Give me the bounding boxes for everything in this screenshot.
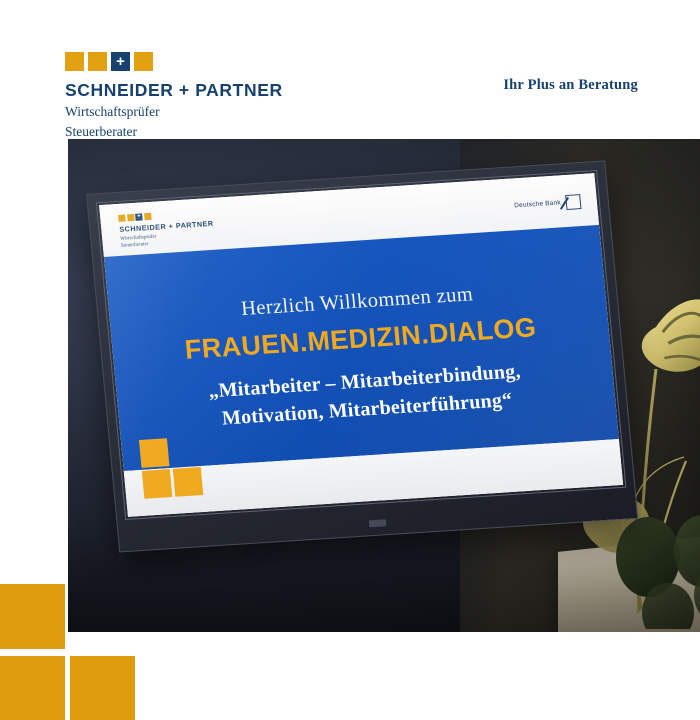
page-corner-square-2 (0, 656, 65, 720)
presentation-photo: + SCHNEIDER + PARTNER Wirtschaftsprüfer … (68, 139, 700, 632)
header-brand-block: + SCHNEIDER + PARTNER Wirtschaftsprüfer … (65, 52, 365, 140)
page-root: + SCHNEIDER + PARTNER Wirtschaftsprüfer … (0, 0, 700, 700)
slide-logo-square-gold-1 (118, 215, 126, 222)
presentation-slide: + SCHNEIDER + PARTNER Wirtschaftsprüfer … (99, 173, 623, 517)
slide-corner-square-1 (139, 438, 170, 468)
tv-brand-logo-icon (369, 519, 387, 527)
slide-text-block: Herzlich Willkommen zum FRAUEN.MEDIZIN.D… (109, 275, 616, 437)
slide-corner-squares (139, 436, 207, 502)
slide-corner-square-2 (142, 469, 173, 499)
logo-square-gold-2 (88, 52, 107, 71)
brand-logo-squares: + (65, 52, 365, 71)
page-corner-square-3 (70, 656, 135, 720)
deutsche-bank-slash-icon (565, 194, 581, 210)
page-corner-squares (0, 560, 140, 700)
wall-mounted-tv: + SCHNEIDER + PARTNER Wirtschaftsprüfer … (86, 160, 638, 552)
logo-square-gold-3 (134, 52, 153, 71)
slide-logo-square-gold-3 (144, 213, 152, 220)
header-tagline: Ihr Plus an Beratung (503, 77, 638, 94)
slide-logo-square-gold-2 (127, 214, 135, 221)
slide-body: Herzlich Willkommen zum FRAUEN.MEDIZIN.D… (104, 225, 619, 471)
company-subtitle-line1: Wirtschaftsprüfer (65, 104, 365, 121)
slide-logo-square-plus-icon: + (135, 213, 143, 220)
tv-screen: + SCHNEIDER + PARTNER Wirtschaftsprüfer … (99, 173, 623, 517)
slide-brand-block: + SCHNEIDER + PARTNER Wirtschaftsprüfer … (118, 209, 215, 250)
company-name: SCHNEIDER + PARTNER (65, 80, 365, 101)
logo-square-plus-icon: + (111, 52, 130, 71)
deutsche-bank-label: Deutsche Bank (514, 199, 561, 209)
company-subtitle-line2: Steuerberater (65, 124, 365, 141)
slide-corner-square-3 (173, 467, 204, 497)
logo-square-gold-1 (65, 52, 84, 71)
deutsche-bank-logo: Deutsche Bank (514, 194, 582, 213)
page-corner-square-1 (0, 584, 65, 649)
